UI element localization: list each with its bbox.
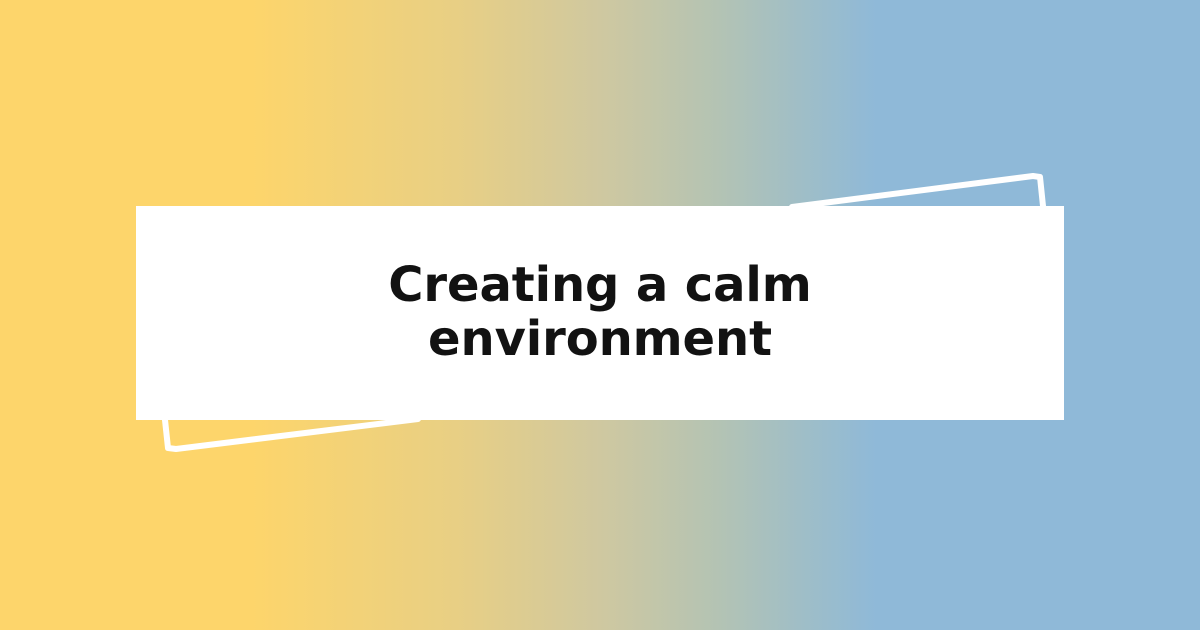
banner-stage: Creating a calm environment <box>0 0 1200 630</box>
page-title: Creating a calm environment <box>385 259 815 367</box>
headline-card: Creating a calm environment <box>136 206 1064 420</box>
